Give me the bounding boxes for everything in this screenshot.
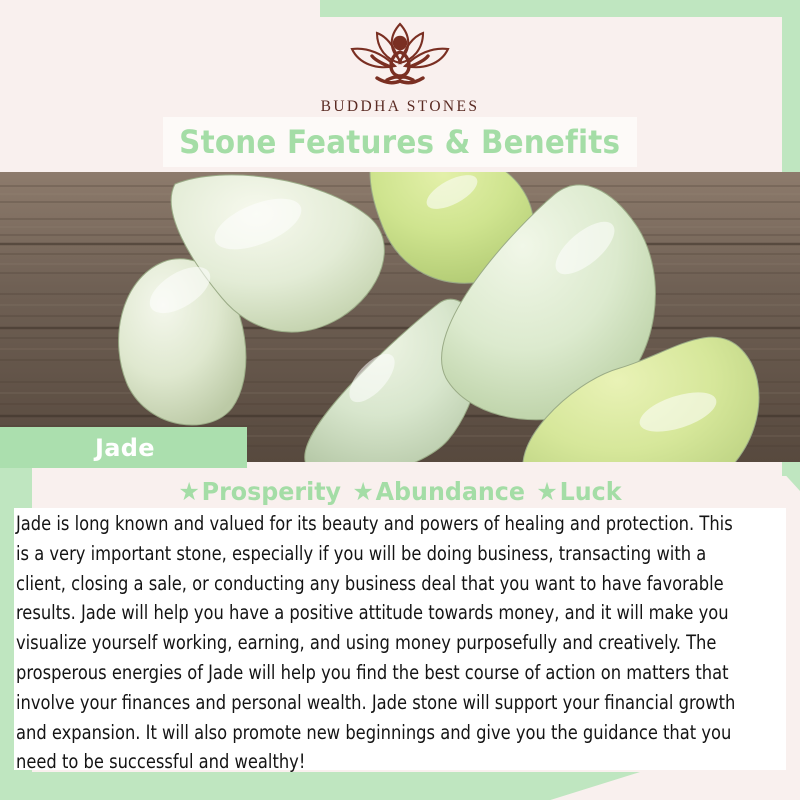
stone-photo [0,172,800,462]
page-title: Stone Features & Benefits [179,123,620,161]
decor-top-bar [320,0,800,17]
star-icon: ★ [352,477,373,506]
jade-stones-illustration [0,172,800,462]
brand-logo: BUDDHA STONES [0,16,800,116]
benefits-row: ★Prosperity★Abundance★Luck [20,477,780,506]
description-text: Jade is long known and valued for its be… [16,509,736,777]
lotus-meditation-icon [325,16,475,94]
benefit-abundance: Abundance [376,477,525,506]
stone-name: Jade [95,434,155,462]
star-icon: ★ [536,477,557,506]
brand-wordmark: BUDDHA STONES [0,98,800,116]
benefit-luck: Luck [560,477,622,506]
benefit-prosperity: Prosperity [202,477,341,506]
star-icon: ★ [178,477,199,506]
title-banner: Stone Features & Benefits [163,117,637,167]
stone-info-card: BUDDHA STONES Stone Features & Benefits [0,0,800,800]
